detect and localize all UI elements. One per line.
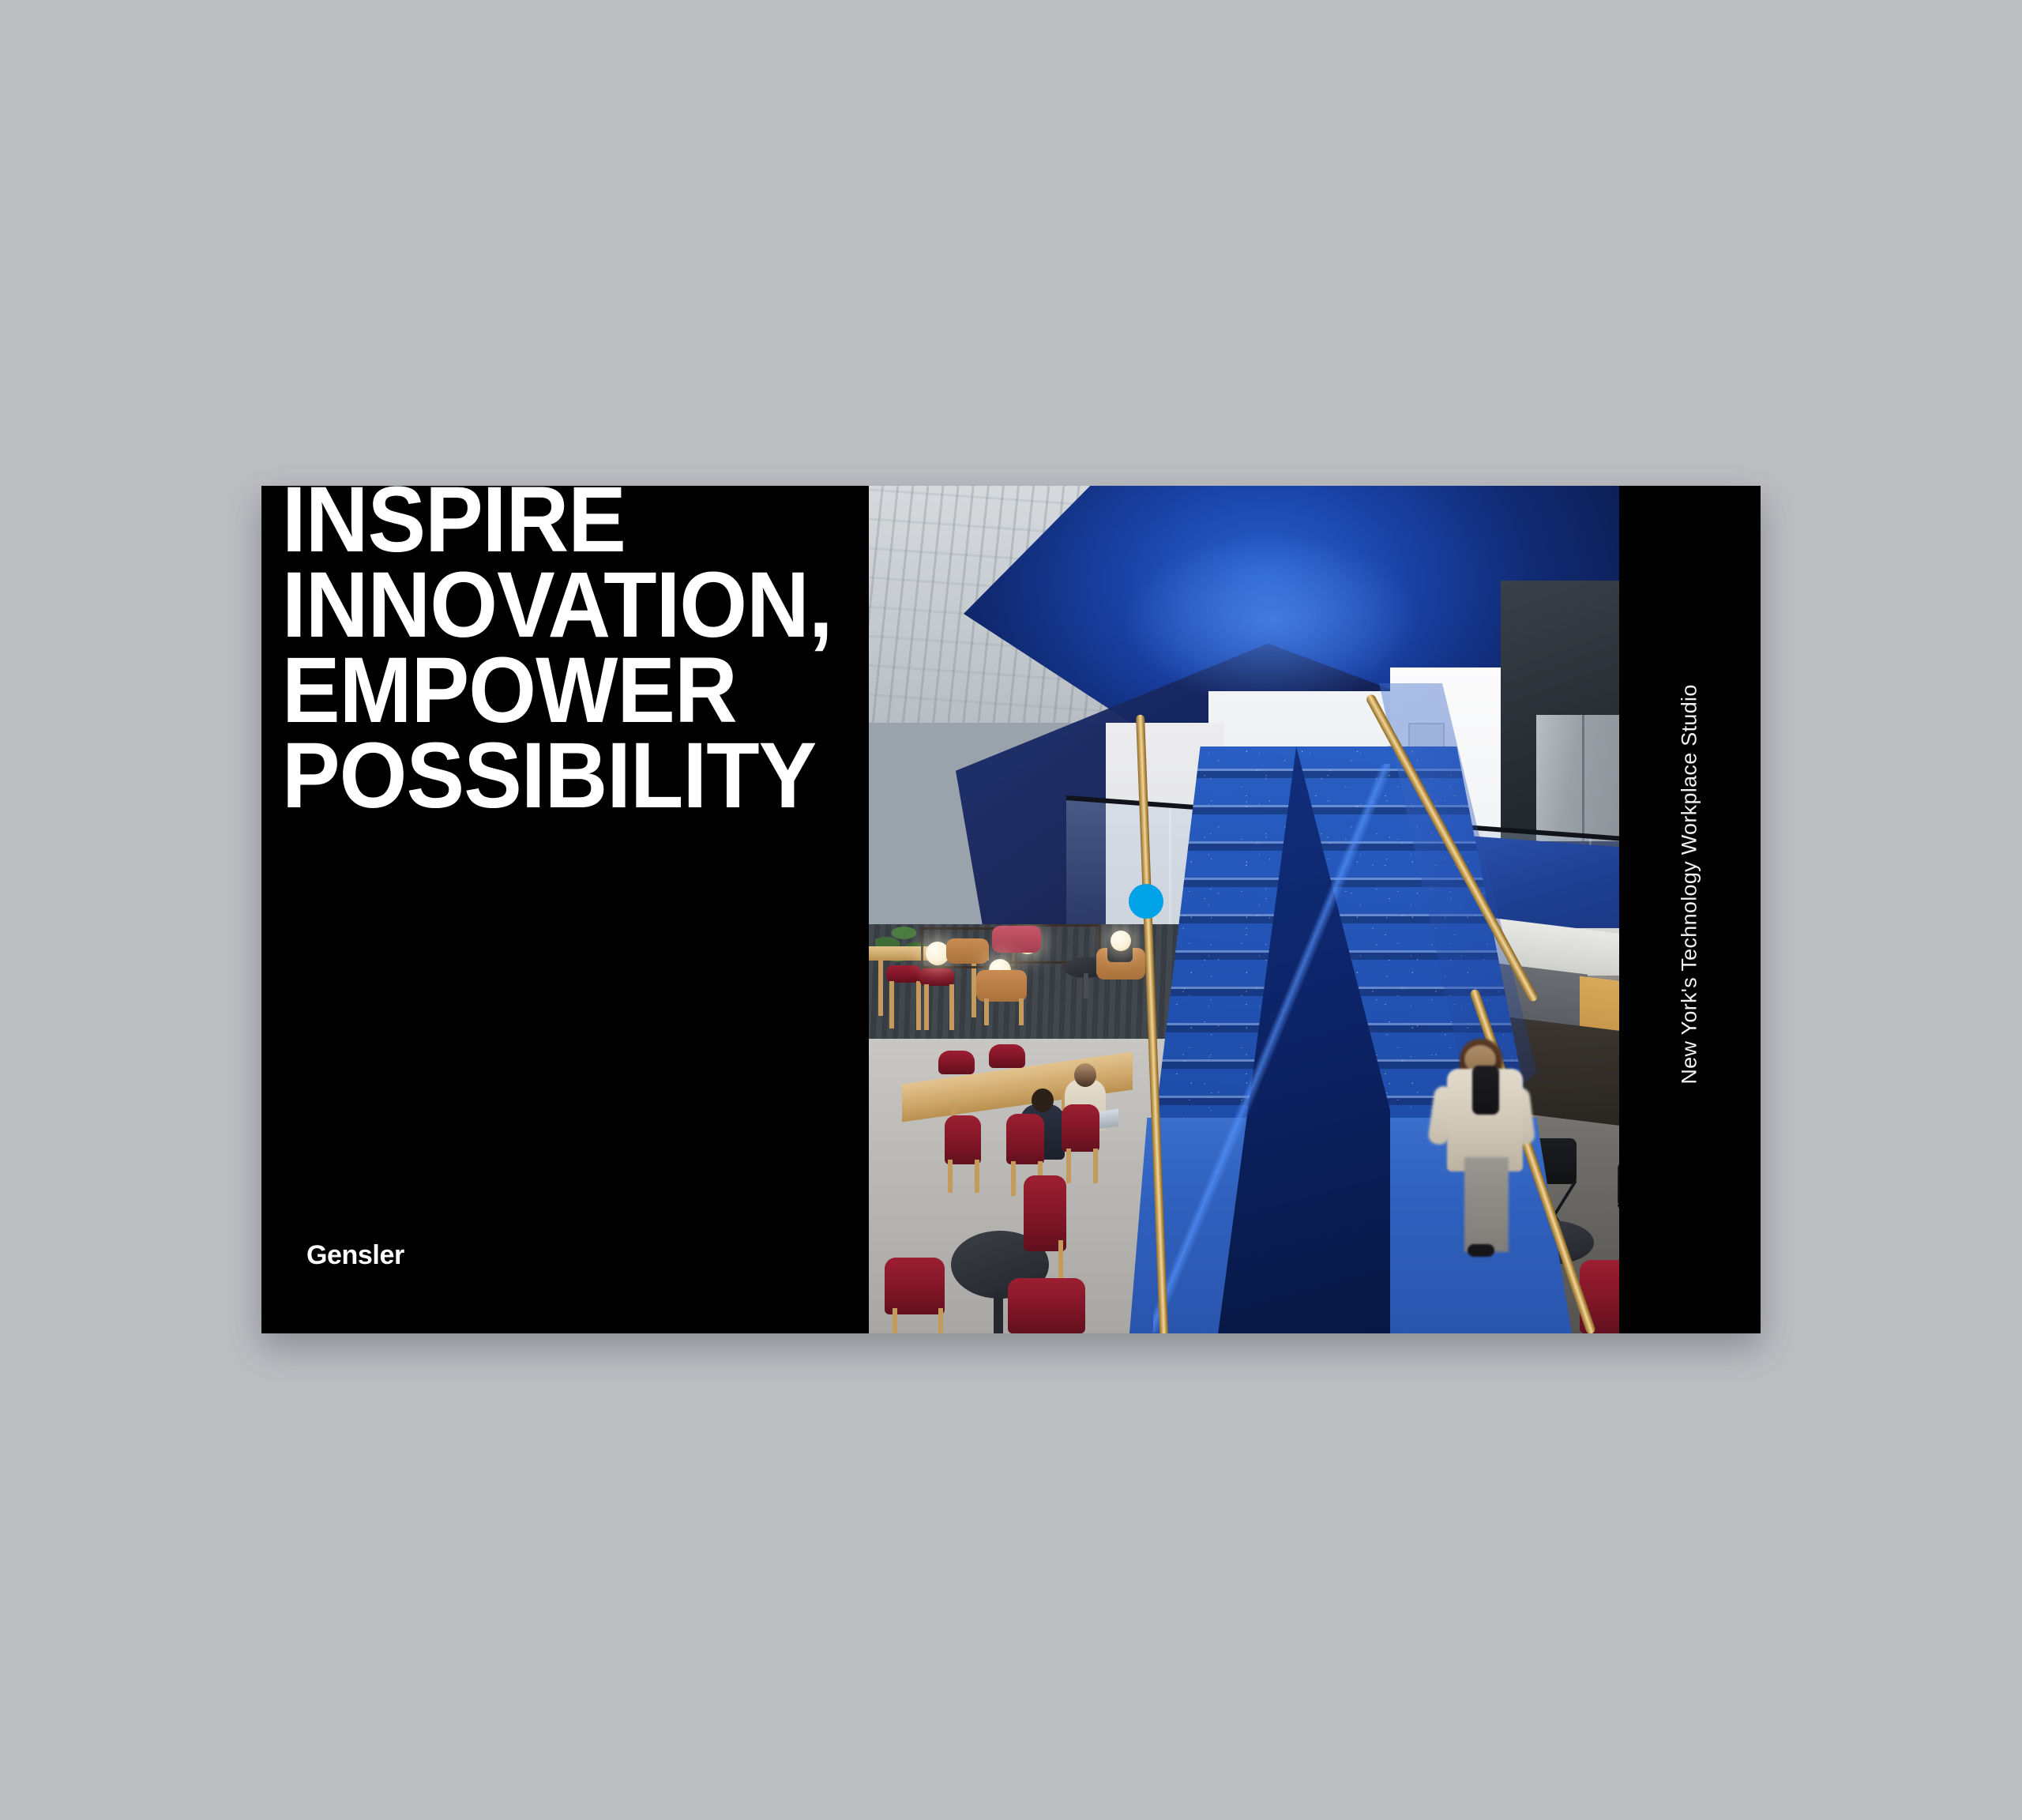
red-chair [938,1051,975,1074]
stool-leg [889,981,894,1028]
blue-period-dot [1129,884,1163,919]
stool-leg [916,981,921,1030]
table-stem [1084,973,1088,998]
right-black-band: New York's Technology Workplace Studio [1619,486,1761,1333]
red-stool-seat [919,968,954,986]
headline-line-1: INSPIRE [282,486,1287,563]
stool-leg [949,984,954,1030]
seated-man-head [1032,1089,1054,1112]
chair-leg [893,1308,897,1333]
woman-shoe [1468,1244,1494,1257]
woman-trousers [1464,1157,1509,1252]
chair-leg [1019,998,1024,1025]
red-stool-seat [886,965,921,983]
red-chair [1006,1114,1044,1164]
headline-line-4: POSSIBILITY [282,734,1287,819]
red-chair [1008,1278,1085,1333]
headline-line-3: EMPOWER [282,649,1287,734]
refrigerator-divider [1582,715,1584,841]
table-pedestal [994,1292,1003,1333]
chair-leg [1066,1149,1071,1183]
woman-top [1472,1066,1499,1115]
red-chair [945,1115,981,1164]
pink-lounge-seat [992,926,1041,953]
globe-lamp [1111,931,1131,951]
lounge-seat [946,938,989,964]
gensler-logo: Gensler [306,1240,404,1271]
table-leg [878,959,883,1016]
seated-woman-head [1074,1063,1096,1087]
chair-leg [975,1160,979,1193]
page-title: INSPIRE INNOVATION, EMPOWER POSSIBILITY [282,486,1287,819]
tan-lounge-chair [976,970,1027,1002]
chair-leg [1093,1149,1098,1183]
presentation-slide: INSPIRE INNOVATION, EMPOWER POSSIBILITY … [261,486,1761,1333]
chair-leg [938,1308,943,1333]
red-chair [989,1044,1025,1068]
vertical-caption: New York's Technology Workplace Studio [1678,632,1702,1137]
chair-leg [948,1160,953,1193]
red-chair [1062,1104,1099,1152]
chair-leg [1011,1161,1016,1196]
stair-edge-glow [1153,764,1390,1333]
stool-leg [924,984,929,1030]
red-chair [885,1258,945,1314]
slide-canvas: INSPIRE INNOVATION, EMPOWER POSSIBILITY … [0,0,2022,1820]
chair-leg [984,998,989,1025]
headline-line-2: INNOVATION, [282,563,1287,649]
